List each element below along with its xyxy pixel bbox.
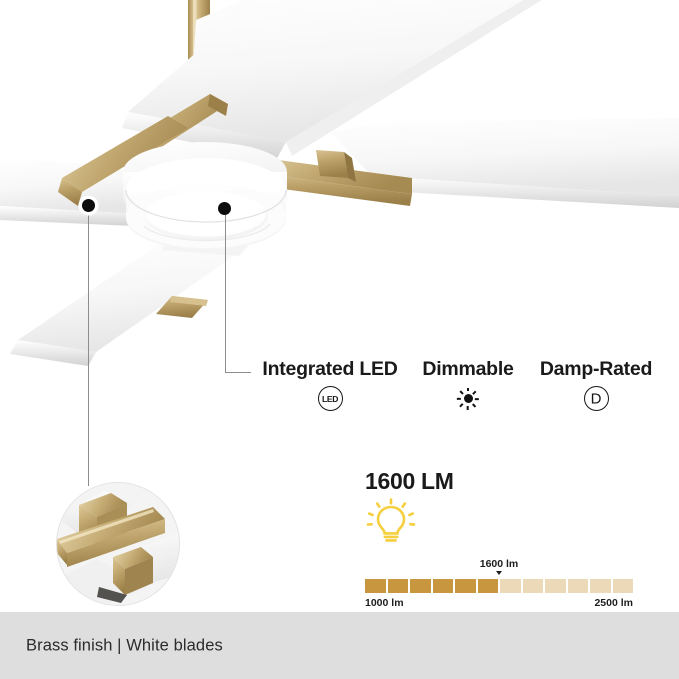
lumens-scale-segment <box>523 579 544 593</box>
lumens-scale-segment <box>590 579 611 593</box>
lumens-scale-min-label: 1000 lm <box>365 597 404 609</box>
fan-blade-lower-left <box>10 238 248 366</box>
led-badge-label: LED <box>319 394 342 403</box>
lumens-scale-segment <box>365 579 386 593</box>
callout-dot-brass-finish <box>82 199 95 212</box>
feature-label-damp-rated: Damp-Rated <box>522 358 670 380</box>
lumens-marker-arrow <box>496 571 502 575</box>
dimmable-ray <box>457 398 461 400</box>
lumens-scale-segment <box>455 579 476 593</box>
dimmable-ray <box>467 406 469 410</box>
lightbulb-icon <box>365 498 417 546</box>
lumens-marker-label: 1600 lm <box>464 558 534 570</box>
lumens-scale-bar <box>365 579 633 593</box>
lumens-scale-max-label: 2500 lm <box>594 597 633 609</box>
product-infographic: Integrated LED LED Dimmable Damp-Rated <box>0 0 679 679</box>
dimmable-icon <box>456 386 481 411</box>
feature-dimmable: Dimmable <box>408 358 528 411</box>
lumens-scale-marker: 1600 lm <box>464 558 534 575</box>
caption-text: Brass finish | White blades <box>26 636 223 655</box>
damp-rated-badge-icon: D <box>584 386 609 411</box>
dimmable-ray <box>475 398 479 400</box>
damp-rated-badge-label: D <box>585 391 608 406</box>
led-badge-icon: LED <box>318 386 343 411</box>
brass-finish-detail-zoom <box>57 483 179 605</box>
feature-integrated-led: Integrated LED LED <box>250 358 410 411</box>
callout-dot-integrated-led <box>218 202 231 215</box>
lumens-scale-segment <box>545 579 566 593</box>
leader-line-brass-finish <box>88 210 89 486</box>
lumens-scale-segment <box>568 579 589 593</box>
lumens-scale-endpoints: 1000 lm 2500 lm <box>365 597 633 611</box>
feature-damp-rated: Damp-Rated D <box>522 358 670 411</box>
leader-line-integrated-led-horizontal <box>225 372 251 373</box>
lumens-scale-segment <box>478 579 499 593</box>
dimmable-ray <box>467 388 469 392</box>
lumens-value-label: 1600 LM <box>365 468 633 494</box>
lumens-scale-segment <box>500 579 521 593</box>
lumens-scale-segment <box>410 579 431 593</box>
leader-line-integrated-led-vertical <box>225 214 226 372</box>
feature-label-dimmable: Dimmable <box>408 358 528 380</box>
dimmable-ray <box>460 390 464 394</box>
lumens-section: 1600 LM 1600 lm 1000 lm <box>365 468 633 551</box>
caption-bar: Brass finish | White blades <box>0 612 679 679</box>
housing-highlight <box>144 166 248 194</box>
lumens-scale-segment <box>613 579 634 593</box>
lumens-scale-segment <box>433 579 454 593</box>
lumens-scale-segment <box>388 579 409 593</box>
brass-joint-closeup <box>57 483 179 605</box>
feature-label-integrated-led: Integrated LED <box>250 358 410 380</box>
dimmable-ray <box>460 403 464 407</box>
dimmable-ray <box>473 390 477 394</box>
dimmable-ray <box>473 403 477 407</box>
feature-badge-row: Integrated LED LED Dimmable Damp-Rated <box>250 358 670 420</box>
dimmable-core <box>464 394 473 403</box>
